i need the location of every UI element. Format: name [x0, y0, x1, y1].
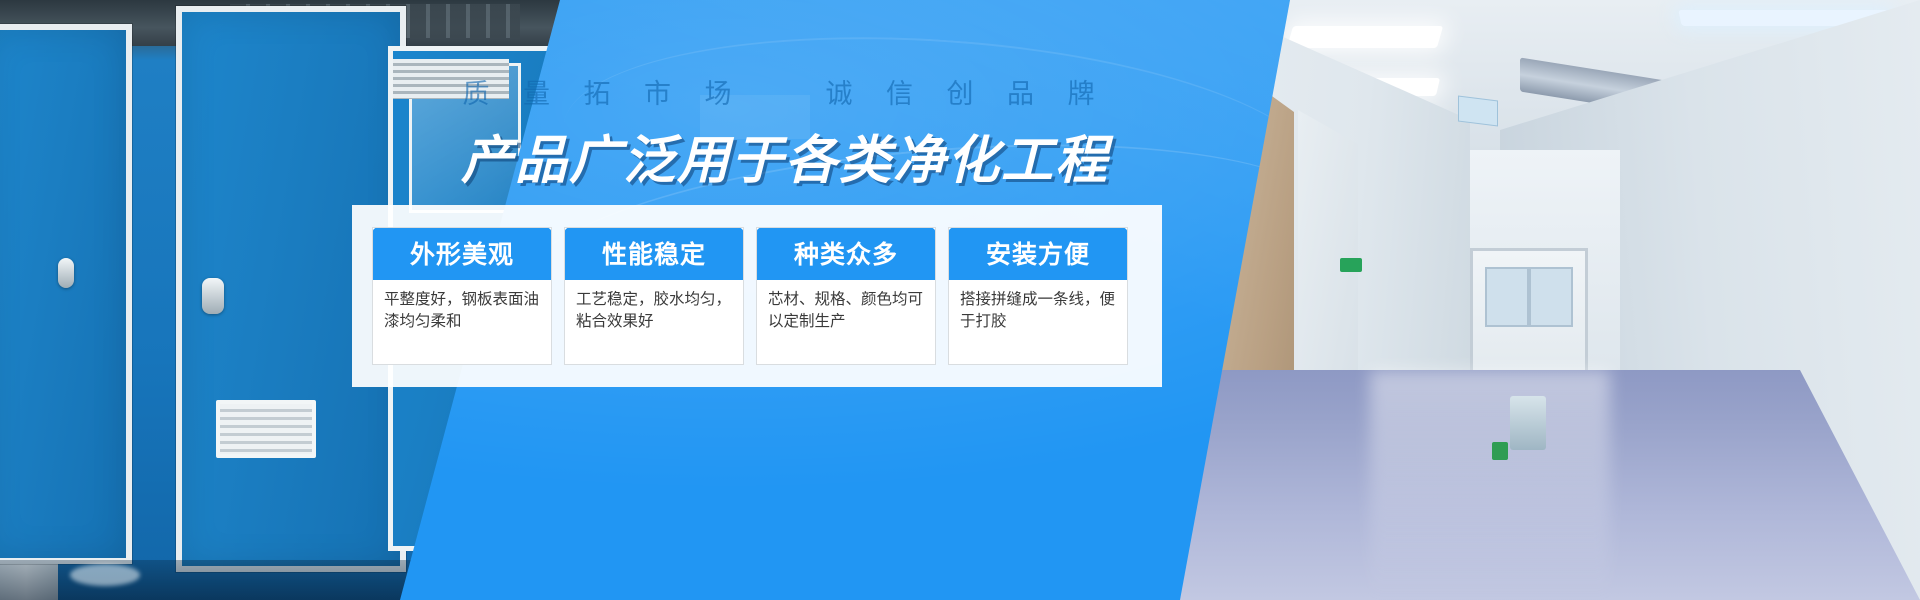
- feature-card-1[interactable]: 外形美观 平整度好，钢板表面油漆均匀柔和: [372, 227, 552, 365]
- feature-card-3-title: 种类众多: [756, 227, 936, 280]
- promo-banner: 质 量 拓 市 场 诚 信 创 品 牌 产品广泛用于各类净化工程 外形美观 平整…: [0, 0, 1920, 600]
- feature-card-4-body: 搭接拼缝成一条线，便于打胶: [949, 280, 1127, 364]
- feature-card-3[interactable]: 种类众多 芯材、规格、颜色均可以定制生产: [756, 227, 936, 365]
- feature-card-1-body: 平整度好，钢板表面油漆均匀柔和: [373, 280, 551, 364]
- feature-card-3-body: 芯材、规格、颜色均可以定制生产: [757, 280, 935, 364]
- feature-card-panel: 外形美观 平整度好，钢板表面油漆均匀柔和 性能稳定 工艺稳定，胶水均匀，粘合效果…: [352, 205, 1162, 387]
- banner-headline: 产品广泛用于各类净化工程: [0, 118, 1570, 193]
- feature-card-1-title: 外形美观: [372, 227, 552, 280]
- feature-card-4[interactable]: 安装方便 搭接拼缝成一条线，便于打胶: [948, 227, 1128, 365]
- feature-card-2[interactable]: 性能稳定 工艺稳定，胶水均匀，粘合效果好: [564, 227, 744, 365]
- feature-card-4-title: 安装方便: [948, 227, 1128, 280]
- feature-card-2-body: 工艺稳定，胶水均匀，粘合效果好: [565, 280, 743, 364]
- banner-subtitle: 质 量 拓 市 场 诚 信 创 品 牌: [0, 72, 1570, 111]
- feature-card-2-title: 性能稳定: [564, 227, 744, 280]
